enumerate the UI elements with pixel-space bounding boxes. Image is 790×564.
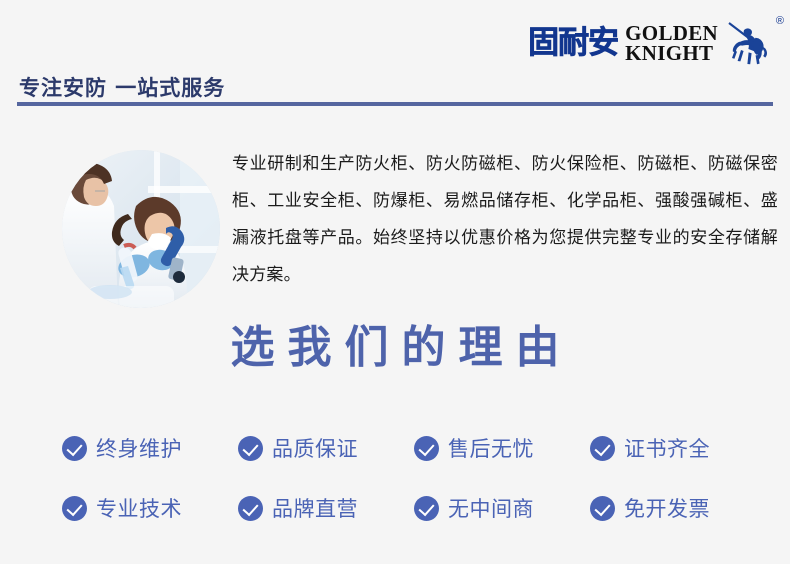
knight-on-horseback-icon xyxy=(720,19,772,67)
feature-item: 终身维护 xyxy=(62,433,238,463)
feature-label: 品质保证 xyxy=(272,433,358,463)
check-circle-icon xyxy=(414,436,439,461)
check-circle-icon xyxy=(238,496,263,521)
check-circle-icon xyxy=(238,436,263,461)
feature-item: 售后无忧 xyxy=(414,433,590,463)
feature-label: 免开发票 xyxy=(624,493,710,523)
check-circle-icon xyxy=(590,496,615,521)
check-circle-icon xyxy=(62,496,87,521)
heading-divider-rule xyxy=(17,102,773,106)
check-circle-icon xyxy=(590,436,615,461)
feature-item: 品质保证 xyxy=(238,433,414,463)
registered-trademark-icon: ® xyxy=(776,15,784,27)
check-circle-icon xyxy=(62,436,87,461)
feature-label: 售后无忧 xyxy=(448,433,534,463)
feature-item: 品牌直营 xyxy=(238,493,414,523)
feature-label: 终身维护 xyxy=(96,433,182,463)
feature-grid: 终身维护 品质保证 售后无忧 证书齐全 专业技术 品牌直营 无中间商 免开发票 xyxy=(62,418,742,538)
feature-label: 无中间商 xyxy=(448,493,534,523)
company-intro-paragraph: 专业研制和生产防火柜、防火防磁柜、防火保险柜、防磁柜、防磁保密柜、工业安全柜、防… xyxy=(232,146,778,294)
logo-english-line1: GOLDEN xyxy=(625,23,718,43)
reasons-title: 选我们的理由 xyxy=(0,322,790,375)
lab-technicians-photo xyxy=(62,150,220,308)
feature-item: 专业技术 xyxy=(62,493,238,523)
brand-bar: 固耐安 GOLDEN KNIGHT xyxy=(0,0,790,72)
logo-chinese-wordmark: 固耐安 xyxy=(528,28,618,59)
logo-english-wordmark: GOLDEN KNIGHT xyxy=(625,23,718,63)
feature-label: 品牌直营 xyxy=(272,493,358,523)
section-heading: 专注安防 一站式服务 xyxy=(19,72,225,102)
lab-photo-illustration xyxy=(62,150,220,308)
check-circle-icon xyxy=(414,496,439,521)
knight-icon-wrapper: ® xyxy=(720,19,772,67)
feature-item: 证书齐全 xyxy=(590,433,766,463)
feature-label: 专业技术 xyxy=(96,493,182,523)
logo-english-line2: KNIGHT xyxy=(625,43,718,63)
feature-label: 证书齐全 xyxy=(624,433,710,463)
company-logo[interactable]: 固耐安 GOLDEN KNIGHT xyxy=(528,18,772,68)
feature-item: 无中间商 xyxy=(414,493,590,523)
feature-item: 免开发票 xyxy=(590,493,766,523)
